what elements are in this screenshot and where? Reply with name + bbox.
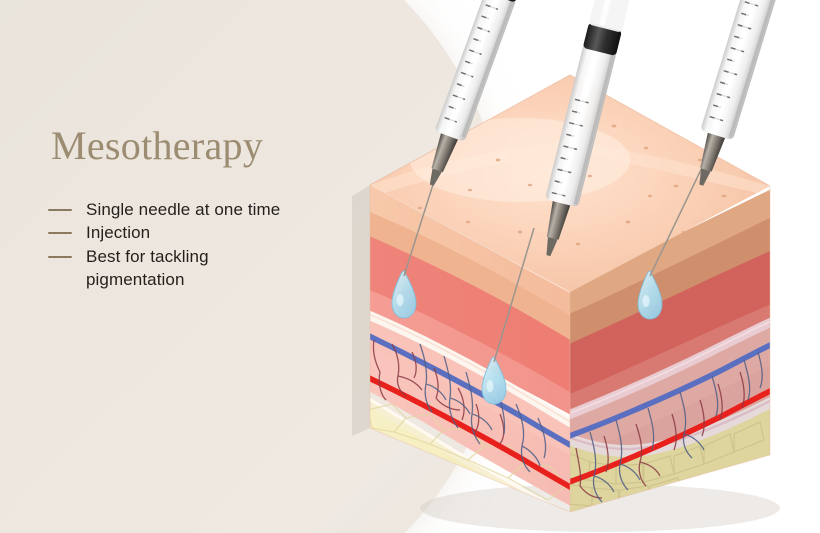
skin-cross-section-illustration [0, 0, 820, 533]
slide-root: Mesotherapy Single needle at one time In… [0, 0, 820, 533]
syringe-right [685, 0, 802, 190]
